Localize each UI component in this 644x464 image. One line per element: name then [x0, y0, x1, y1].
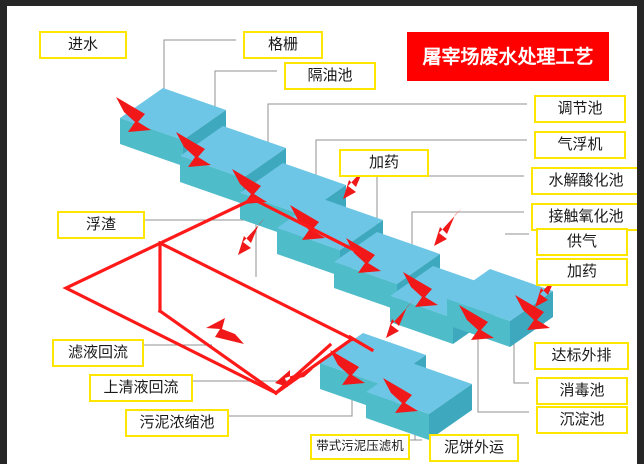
- label-cake-out-text: 泥饼外运: [444, 439, 504, 456]
- label-air-supply[interactable]: 供气: [536, 228, 628, 256]
- label-sediment[interactable]: 沉淀池: [536, 406, 628, 434]
- page-title: 屠宰场废水处理工艺: [407, 32, 609, 81]
- label-grille[interactable]: 格栅: [243, 31, 323, 59]
- flow-loop-press: [276, 339, 352, 393]
- label-cake-out[interactable]: 泥饼外运: [429, 434, 519, 462]
- label-discharge[interactable]: 达标外排: [534, 342, 629, 370]
- label-grille-text: 格栅: [268, 36, 298, 53]
- label-contact-ox-text: 接触氧化池: [548, 208, 623, 225]
- label-sludge-thick[interactable]: 污泥浓缩池: [125, 409, 229, 437]
- label-inflow-text: 进水: [68, 36, 98, 53]
- label-regulating-text: 调节池: [557, 100, 602, 117]
- flow-loop-right: [253, 199, 360, 253]
- label-scum-text: 浮渣: [86, 216, 116, 233]
- label-oil-sep[interactable]: 隔油池: [284, 62, 376, 90]
- label-supernatant-text: 上清液回流: [103, 379, 178, 396]
- label-hydrolysis-text: 水解酸化池: [548, 172, 623, 189]
- label-sludge-thick-text: 污泥浓缩池: [139, 414, 214, 431]
- label-contact-ox[interactable]: 接触氧化池: [531, 203, 641, 231]
- diagram-canvas: 屠宰场废水处理工艺 进水格栅隔油池调节池气浮机水解酸化池接触氧化池供气加药加药浮…: [0, 0, 644, 464]
- label-filtrate[interactable]: 滤液回流: [52, 339, 144, 367]
- label-sediment-text: 沉淀池: [559, 411, 604, 428]
- label-flotation-text: 气浮机: [557, 136, 602, 153]
- label-disinfect[interactable]: 消毒池: [536, 377, 628, 405]
- label-belt-press-text: 带式污泥压滤机: [316, 439, 404, 453]
- label-dosing-right-text: 加药: [567, 263, 597, 280]
- label-belt-press[interactable]: 带式污泥压滤机: [310, 434, 410, 460]
- label-supernatant[interactable]: 上清液回流: [89, 374, 193, 402]
- label-dosing-right[interactable]: 加药: [536, 258, 628, 286]
- page-title-text: 屠宰场废水处理工艺: [422, 47, 593, 68]
- label-hydrolysis[interactable]: 水解酸化池: [531, 167, 641, 195]
- label-oil-sep-text: 隔油池: [307, 67, 352, 84]
- label-air-supply-text: 供气: [567, 233, 597, 250]
- label-disinfect-text: 消毒池: [559, 382, 604, 399]
- label-dosing-mid-text: 加药: [369, 154, 399, 171]
- flow-loop-stub: [350, 337, 372, 350]
- label-filtrate-text: 滤液回流: [68, 344, 128, 361]
- label-scum[interactable]: 浮渣: [57, 211, 145, 239]
- label-inflow[interactable]: 进水: [39, 31, 127, 59]
- label-discharge-text: 达标外排: [551, 347, 611, 364]
- label-dosing-mid[interactable]: 加药: [339, 149, 429, 177]
- flow-loop-diag1: [160, 243, 352, 339]
- label-flotation[interactable]: 气浮机: [534, 131, 626, 159]
- label-regulating[interactable]: 调节池: [534, 95, 626, 123]
